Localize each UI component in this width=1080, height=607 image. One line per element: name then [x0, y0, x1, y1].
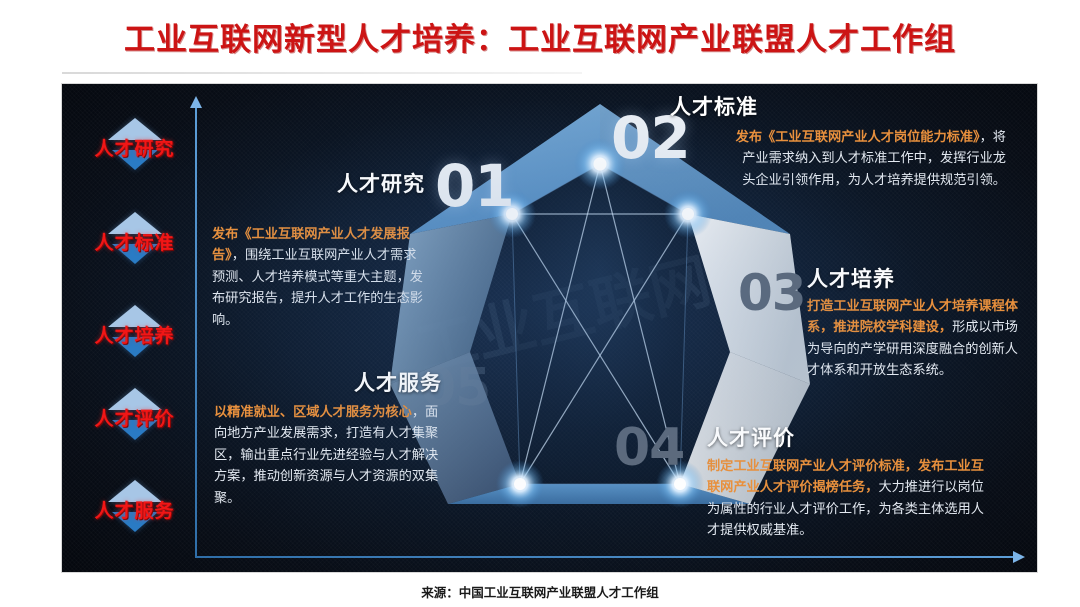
horizontal-axis-line: [195, 556, 1015, 558]
rail-item-talent-evaluation[interactable]: 人才评价: [67, 374, 202, 460]
block-02-highlight: 发布《工业互联网产业人才岗位能力标准》: [736, 130, 980, 145]
block-05-heading: 人才服务: [277, 367, 442, 397]
rail-item-talent-cultivation[interactable]: 人才培养: [67, 291, 202, 377]
rail-item-talent-standard[interactable]: 人才标准: [67, 198, 202, 284]
rail-item-label: 人才研究: [67, 134, 202, 161]
rail-item-label: 人才标准: [67, 228, 202, 255]
block-05-highlight: 以精准就业、区域人才服务为核心: [214, 405, 412, 420]
block-03-heading: 人才培养: [807, 263, 1007, 293]
rail-item-label: 人才评价: [67, 404, 202, 431]
left-rail: 人才研究 人才标准 人才培养 人才评价 人才服务: [67, 94, 202, 564]
block-01-body: 发布《工业互联网产业人才发展报告》，围绕工业互联网产业人才需求预测、人才培养模式…: [212, 224, 424, 331]
block-05-rest: ，面向地方产业发展需求，打造有人才集聚区，输出重点行业先进经验与人才解决方案，推…: [214, 405, 438, 506]
block-03: 人才培养: [807, 263, 1007, 298]
dark-content-panel: 工业互联网 人才研究 人才标准 人才培养: [62, 84, 1037, 572]
block-04-body: 制定工业互联网产业人才评价标准，发布工业互联网产业人才评价揭榜任务，大力推进行以…: [707, 456, 992, 542]
block-04: 人才评价: [707, 422, 907, 457]
block-01-rest: ，围绕工业互联网产业人才需求预测、人才培养模式等重大主题，发布研究报告，提升人才…: [212, 248, 423, 327]
rail-item-talent-service[interactable]: 人才服务: [67, 466, 202, 552]
block-01-heading: 人才研究: [220, 168, 425, 198]
block-05-body: 以精准就业、区域人才服务为核心，面向地方产业发展需求，打造有人才集聚区，输出重点…: [214, 402, 446, 509]
block-04-heading: 人才评价: [707, 422, 907, 452]
rail-item-talent-research[interactable]: 人才研究: [67, 104, 202, 190]
block-02-heading: 人才标准: [670, 91, 870, 121]
block-02-body: 发布《工业互联网产业人才岗位能力标准》，将产业需求纳入到人才标准工作中，发挥行业…: [734, 127, 1006, 191]
block-02: 人才标准: [670, 91, 870, 126]
rail-item-label: 人才服务: [67, 496, 202, 523]
title-divider: [62, 72, 582, 74]
page-title: 工业互联网新型人才培养：工业互联网产业联盟人才工作组: [0, 14, 1080, 59]
block-01: 人才研究: [220, 168, 425, 203]
slide-root: 工业互联网新型人才培养：工业互联网产业联盟人才工作组 工业互联网 人才研究 人才…: [0, 0, 1080, 607]
rail-item-label: 人才培养: [67, 321, 202, 348]
block-03-body: 打造工业互联网产业人才培养课程体系，推进院校学科建设，形成以市场为导向的产学研用…: [807, 296, 1022, 382]
horizontal-axis-arrow-icon: [1013, 551, 1025, 563]
block-05: 人才服务: [277, 367, 442, 402]
source-caption: 来源：中国工业互联网产业联盟人才工作组: [0, 582, 1080, 601]
